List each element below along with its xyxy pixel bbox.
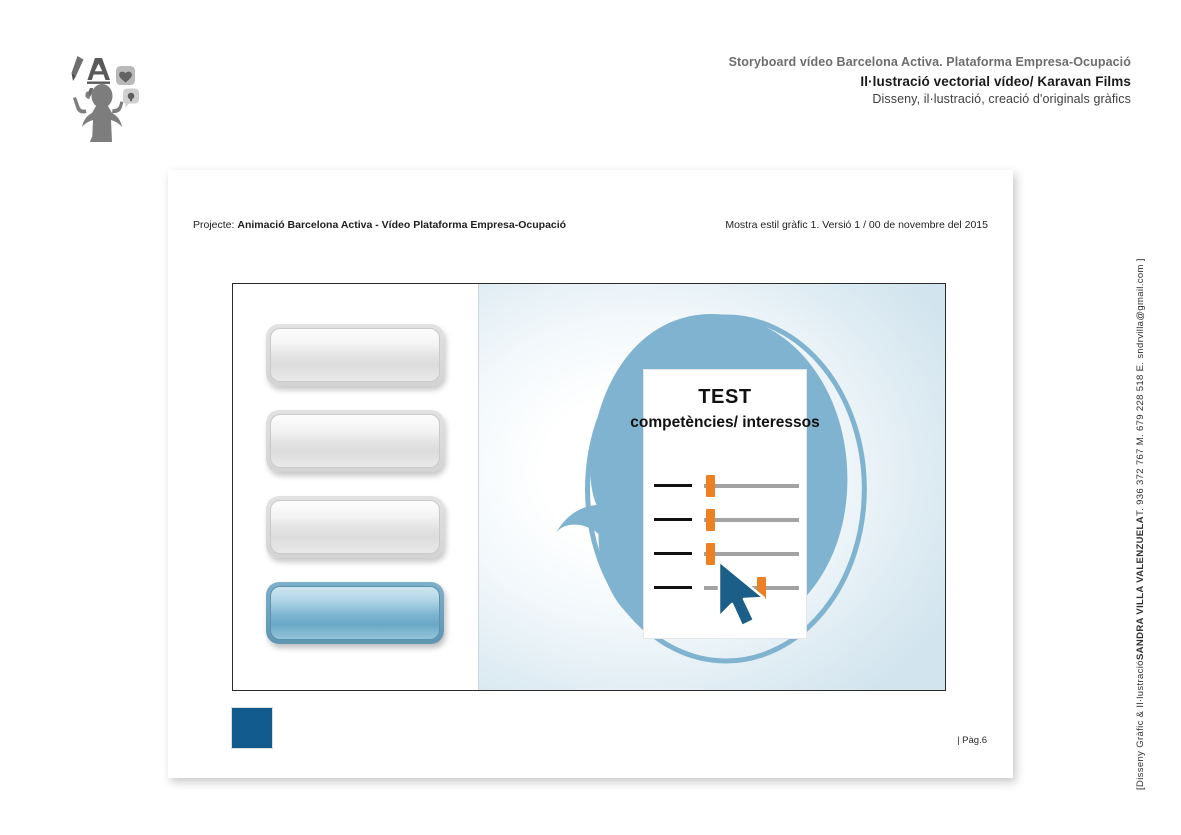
mouse-cursor-icon: [715, 559, 777, 629]
color-swatch: [231, 707, 273, 749]
mock-button-2-inner: [270, 414, 440, 468]
slider-label-line-4: [654, 586, 692, 589]
header-title-line1: Storyboard vídeo Barcelona Activa. Plata…: [729, 54, 1131, 72]
document-subtitle: competències/ interessos: [620, 414, 830, 432]
credit-designer-name: SANDRA VILLA VALENZUELA: [1135, 516, 1146, 660]
slider-handle-3[interactable]: [706, 543, 715, 565]
mock-button-3[interactable]: [266, 496, 444, 558]
document-header: Storyboard vídeo Barcelona Activa. Plata…: [729, 54, 1131, 109]
header-title-line2: Il·lustració vectorial vídeo/ Karavan Fi…: [729, 72, 1131, 91]
illustration-right-pane: TEST competències/ interessos: [479, 284, 945, 690]
slider-label-line-2: [654, 518, 692, 521]
mock-button-1[interactable]: [266, 324, 444, 386]
project-meta: Projecte: Animació Barcelona Activa - Ví…: [193, 219, 566, 231]
slider-handle-2[interactable]: [706, 509, 715, 531]
slider-handle-1[interactable]: [706, 475, 715, 497]
mock-button-3-inner: [270, 500, 440, 554]
credit-role-text: Disseny Gràfic & Il·lustració: [1135, 660, 1146, 787]
credit-contact: T. 936 372 767 M. 679 228 518 E. sndrvil…: [1135, 259, 1146, 517]
slider-row-2[interactable]: [654, 509, 806, 531]
mock-button-1-inner: [270, 328, 440, 382]
header-title-line3: Disseny, il·lustració, creació d'origina…: [729, 91, 1131, 109]
storyboard-page-card: Projecte: Animació Barcelona Activa - Ví…: [168, 170, 1013, 778]
credit-role: [: [1135, 787, 1146, 790]
studio-logo: [52, 40, 144, 142]
slider-label-line-3: [654, 552, 692, 555]
slider-track-3[interactable]: [704, 552, 799, 556]
mock-button-2[interactable]: [266, 410, 444, 472]
slider-row-1[interactable]: [654, 475, 806, 497]
slider-label-line-1: [654, 484, 692, 487]
mock-button-4-inner: [270, 586, 440, 640]
illustration-frame: TEST competències/ interessos: [232, 283, 946, 691]
illustration-left-pane: [233, 284, 479, 690]
slider-track-1[interactable]: [704, 484, 799, 488]
slider-track-2[interactable]: [704, 518, 799, 522]
version-meta: Mostra estil gràfic 1. Versió 1 / 00 de …: [725, 219, 988, 231]
mock-button-4-selected[interactable]: [266, 582, 444, 644]
page-number: | Pàg.6: [957, 735, 987, 746]
document-title: TEST: [644, 386, 806, 409]
project-value: Animació Barcelona Activa - Vídeo Plataf…: [237, 219, 566, 231]
designer-credit-vertical: [ Disseny Gràfic & Il·lustració SANDRA V…: [1135, 250, 1153, 790]
project-label: Projecte:: [193, 219, 237, 231]
